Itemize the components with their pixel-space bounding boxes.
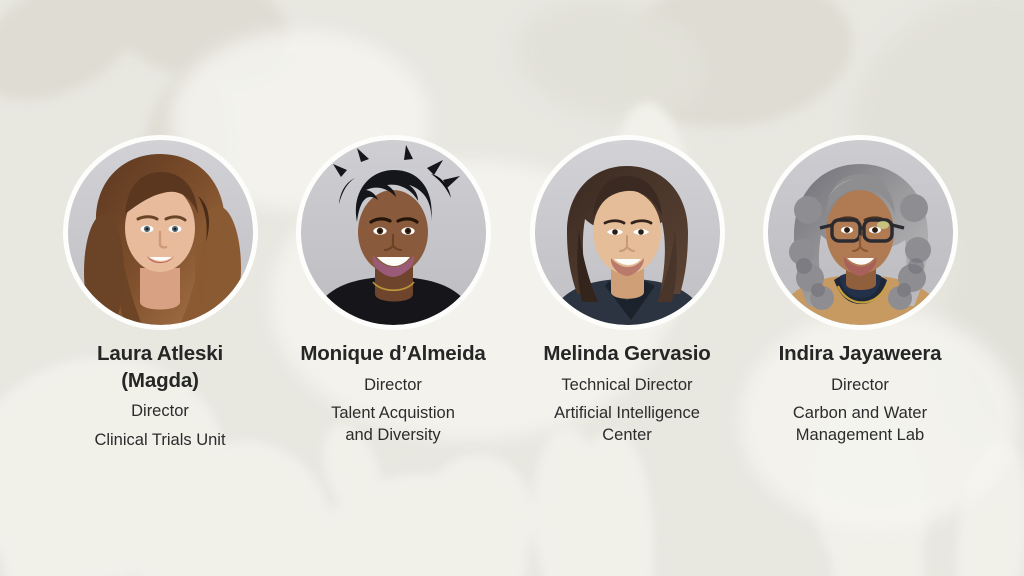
avatar (535, 140, 720, 325)
person-role: Director (35, 401, 285, 423)
person-name: Monique d’Almeida (268, 341, 518, 368)
person-name: Laura Atleski (Magda) (35, 341, 285, 394)
person-meta: Monique d’Almeida Director Talent Acquis… (268, 341, 518, 447)
person-name: Melinda Gervasio (502, 341, 752, 368)
person-card: Melinda Gervasio Technical Director Arti… (502, 140, 752, 447)
people-row: Laura Atleski (Magda) Director Clinical … (0, 0, 1024, 576)
person-meta: Laura Atleski (Magda) Director Clinical … (35, 341, 285, 452)
person-name: Indira Jayaweera (735, 341, 985, 368)
avatar (768, 140, 953, 325)
person-card: Monique d’Almeida Director Talent Acquis… (268, 140, 518, 447)
person-department: Clinical Trials Unit (35, 430, 285, 452)
person-card: Laura Atleski (Magda) Director Clinical … (35, 140, 285, 452)
slide-canvas: Laura Atleski (Magda) Director Clinical … (0, 0, 1024, 576)
person-meta: Melinda Gervasio Technical Director Arti… (502, 341, 752, 447)
person-department: Talent Acquistion and Diversity (268, 403, 518, 447)
person-department: Artificial Intelligence Center (502, 403, 752, 447)
person-department: Carbon and Water Management Lab (735, 403, 985, 447)
person-role: Director (735, 375, 985, 397)
person-role: Technical Director (502, 375, 752, 397)
person-meta: Indira Jayaweera Director Carbon and Wat… (735, 341, 985, 447)
avatar (68, 140, 253, 325)
person-role: Director (268, 375, 518, 397)
avatar (301, 140, 486, 325)
person-card: Indira Jayaweera Director Carbon and Wat… (735, 140, 985, 447)
